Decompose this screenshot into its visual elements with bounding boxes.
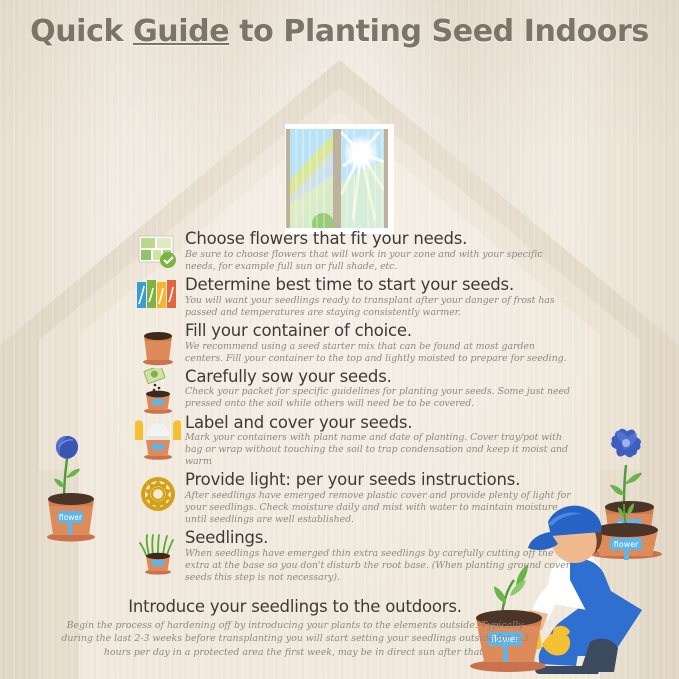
step-fill-container: Fill your container of choice. We recomm… (135, 322, 575, 365)
potted-blue-flower-bud-left: flower (34, 415, 108, 545)
sowing-seeds-icon (135, 368, 181, 414)
step-seedlings: Seedlings. When seedlings have emerged t… (135, 529, 575, 584)
title-part-before: Quick (30, 14, 133, 49)
seed-catalog-icon (135, 230, 181, 276)
step-body: When seedlings have emerged thin extra s… (185, 548, 575, 584)
gloves-covered-pot-icon (135, 414, 181, 460)
page-title: Quick Guide to Planting Seed Indoors (0, 14, 679, 49)
step-heading: Provide light: per your seeds instructio… (185, 471, 575, 489)
step-heading: Choose flowers that fit your needs. (185, 230, 575, 248)
step-heading: Carefully sow your seeds. (185, 368, 575, 386)
step-body: Mark your containers with plant name and… (185, 432, 575, 468)
seedlings-pot-icon (135, 529, 181, 575)
step-heading: Fill your container of choice. (185, 322, 575, 340)
step-label-cover: Label and cover your seeds. Mark your co… (135, 414, 575, 469)
seed-packets-icon (135, 276, 181, 322)
title-part-underlined: Guide (133, 14, 229, 49)
footer-body: Begin the process of hardening off by in… (60, 619, 530, 659)
footer-heading: Introduce your seedlings to the outdoors… (60, 597, 530, 616)
step-body: Be sure to choose flowers that will work… (185, 249, 575, 273)
window-illustration (283, 120, 396, 236)
infographic-poster: Quick Guide to Planting Seed Indoors (0, 0, 679, 679)
step-heading: Label and cover your seeds. (185, 414, 575, 432)
steps-list: Choose flowers that fit your needs. Be s… (135, 230, 575, 587)
step-sow-seeds: Carefully sow your seeds. Check your pac… (135, 368, 575, 411)
footer-section: Introduce your seedlings to the outdoors… (60, 597, 530, 659)
title-part-after: to Planting Seed Indoors (229, 14, 649, 49)
step-choose-flowers: Choose flowers that fit your needs. Be s… (135, 230, 575, 273)
step-heading: Determine best time to start your seeds. (185, 276, 575, 294)
svg-text:flower: flower (614, 540, 639, 549)
empty-pot-icon (135, 322, 181, 368)
step-body: Check your packet for specific guideline… (185, 386, 575, 410)
pot-label-text: flower (59, 513, 83, 522)
step-body: You will want your seedlings ready to tr… (185, 295, 575, 319)
step-heading: Seedlings. (185, 529, 575, 547)
step-determine-time: Determine best time to start your seeds.… (135, 276, 575, 319)
step-provide-light: Provide light: per your seeds instructio… (135, 471, 575, 526)
step-body: We recommend using a seed starter mix th… (185, 341, 575, 365)
sun-light-icon (135, 471, 181, 517)
step-body: After seedlings have emerged remove plas… (185, 490, 575, 526)
